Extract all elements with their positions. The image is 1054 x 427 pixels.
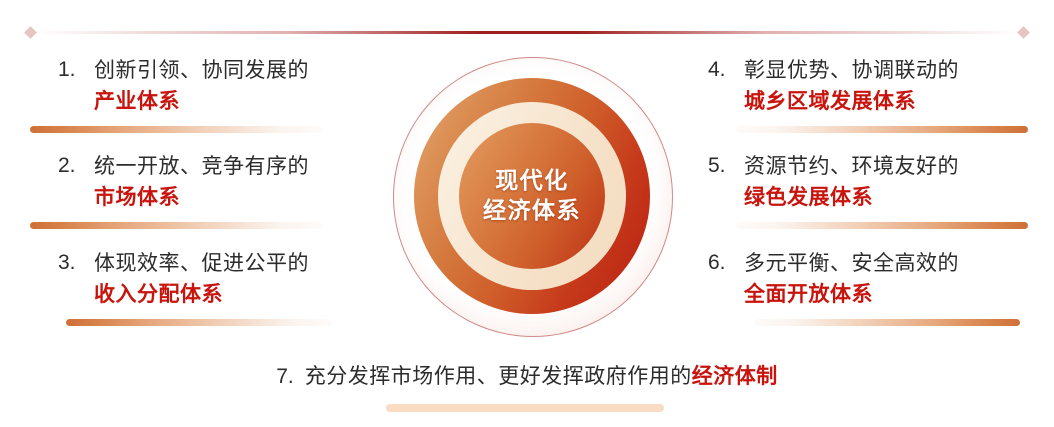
infographic-canvas: 现代化 经济体系 1. 创新引领、协同发展的 产业体系 2. 统一开放、竞争有序…: [0, 0, 1054, 427]
item-5-plain-text: 资源节约、环境友好的: [744, 151, 1028, 182]
item-7-accent-text: 经济体制: [692, 360, 778, 390]
item-2-row: 2. 统一开放、竞争有序的 市场体系: [58, 151, 378, 213]
item-6-row: 6. 多元平衡、安全高效的 全面开放体系: [708, 248, 1028, 310]
item-6-divider: [754, 319, 1020, 326]
item-4-plain-text: 彰显优势、协调联动的: [744, 55, 1028, 86]
item-1-accent-text: 产业体系: [94, 86, 378, 117]
item-2-divider: [30, 222, 322, 229]
item-1-number: 1.: [58, 55, 94, 85]
item-1-row: 1. 创新引领、协同发展的 产业体系: [58, 55, 378, 117]
item-5-divider: [736, 222, 1028, 229]
item-3-plain-text: 体现效率、促进公平的: [94, 248, 378, 279]
item-7-plain-text: 充分发挥市场作用、更好发挥政府作用的: [305, 360, 692, 390]
item-6-plain-text: 多元平衡、安全高效的: [744, 248, 1028, 279]
list-item-2: 2. 统一开放、竞争有序的 市场体系: [58, 151, 378, 229]
bottom-accent-bar: [386, 404, 664, 412]
item-4-accent-text: 城乡区域发展体系: [744, 86, 1028, 117]
item-6-accent-text: 全面开放体系: [744, 279, 1028, 310]
rule-right-diamond-icon: [1017, 26, 1030, 39]
item-2-plain-text: 统一开放、竞争有序的: [94, 151, 378, 182]
top-decorative-rule: [30, 31, 1024, 34]
list-item-3: 3. 体现效率、促进公平的 收入分配体系: [58, 248, 378, 326]
item-1-text: 创新引领、协同发展的 产业体系: [94, 55, 378, 117]
list-item-6: 6. 多元平衡、安全高效的 全面开放体系: [708, 248, 1028, 326]
item-4-divider: [736, 126, 1028, 133]
left-item-column: 1. 创新引领、协同发展的 产业体系 2. 统一开放、竞争有序的 市场体系 3.: [58, 55, 378, 326]
item-7-number: 7.: [276, 365, 294, 389]
item-4-row: 4. 彰显优势、协调联动的 城乡区域发展体系: [708, 55, 1028, 117]
item-3-text: 体现效率、促进公平的 收入分配体系: [94, 248, 378, 310]
emblem-core-circle: 现代化 经济体系: [459, 123, 605, 269]
item-1-divider: [30, 126, 322, 133]
item-5-text: 资源节约、环境友好的 绿色发展体系: [744, 151, 1028, 213]
item-5-number: 5.: [708, 151, 744, 181]
emblem-title-line-1: 现代化: [495, 169, 569, 193]
central-emblem: 现代化 经济体系: [393, 57, 673, 337]
item-2-number: 2.: [58, 151, 94, 181]
list-item-5: 5. 资源节约、环境友好的 绿色发展体系: [708, 151, 1028, 229]
item-3-row: 3. 体现效率、促进公平的 收入分配体系: [58, 248, 378, 310]
rule-left-diamond-icon: [24, 26, 37, 39]
item-3-number: 3.: [58, 248, 94, 278]
item-3-divider: [66, 319, 332, 326]
item-2-accent-text: 市场体系: [94, 182, 378, 213]
list-item-7: 7. 充分发挥市场作用、更好发挥政府作用的 经济体制: [0, 360, 1054, 390]
item-3-accent-text: 收入分配体系: [94, 279, 378, 310]
right-item-column: 4. 彰显优势、协调联动的 城乡区域发展体系 5. 资源节约、环境友好的 绿色发…: [708, 55, 1028, 326]
item-2-text: 统一开放、竞争有序的 市场体系: [94, 151, 378, 213]
list-item-4: 4. 彰显优势、协调联动的 城乡区域发展体系: [708, 55, 1028, 133]
emblem-title-line-2: 经济体系: [483, 199, 581, 223]
item-5-accent-text: 绿色发展体系: [744, 182, 1028, 213]
item-4-number: 4.: [708, 55, 744, 85]
list-item-1: 1. 创新引领、协同发展的 产业体系: [58, 55, 378, 133]
item-1-plain-text: 创新引领、协同发展的: [94, 55, 378, 86]
item-6-number: 6.: [708, 248, 744, 278]
item-5-row: 5. 资源节约、环境友好的 绿色发展体系: [708, 151, 1028, 213]
item-4-text: 彰显优势、协调联动的 城乡区域发展体系: [744, 55, 1028, 117]
item-6-text: 多元平衡、安全高效的 全面开放体系: [744, 248, 1028, 310]
